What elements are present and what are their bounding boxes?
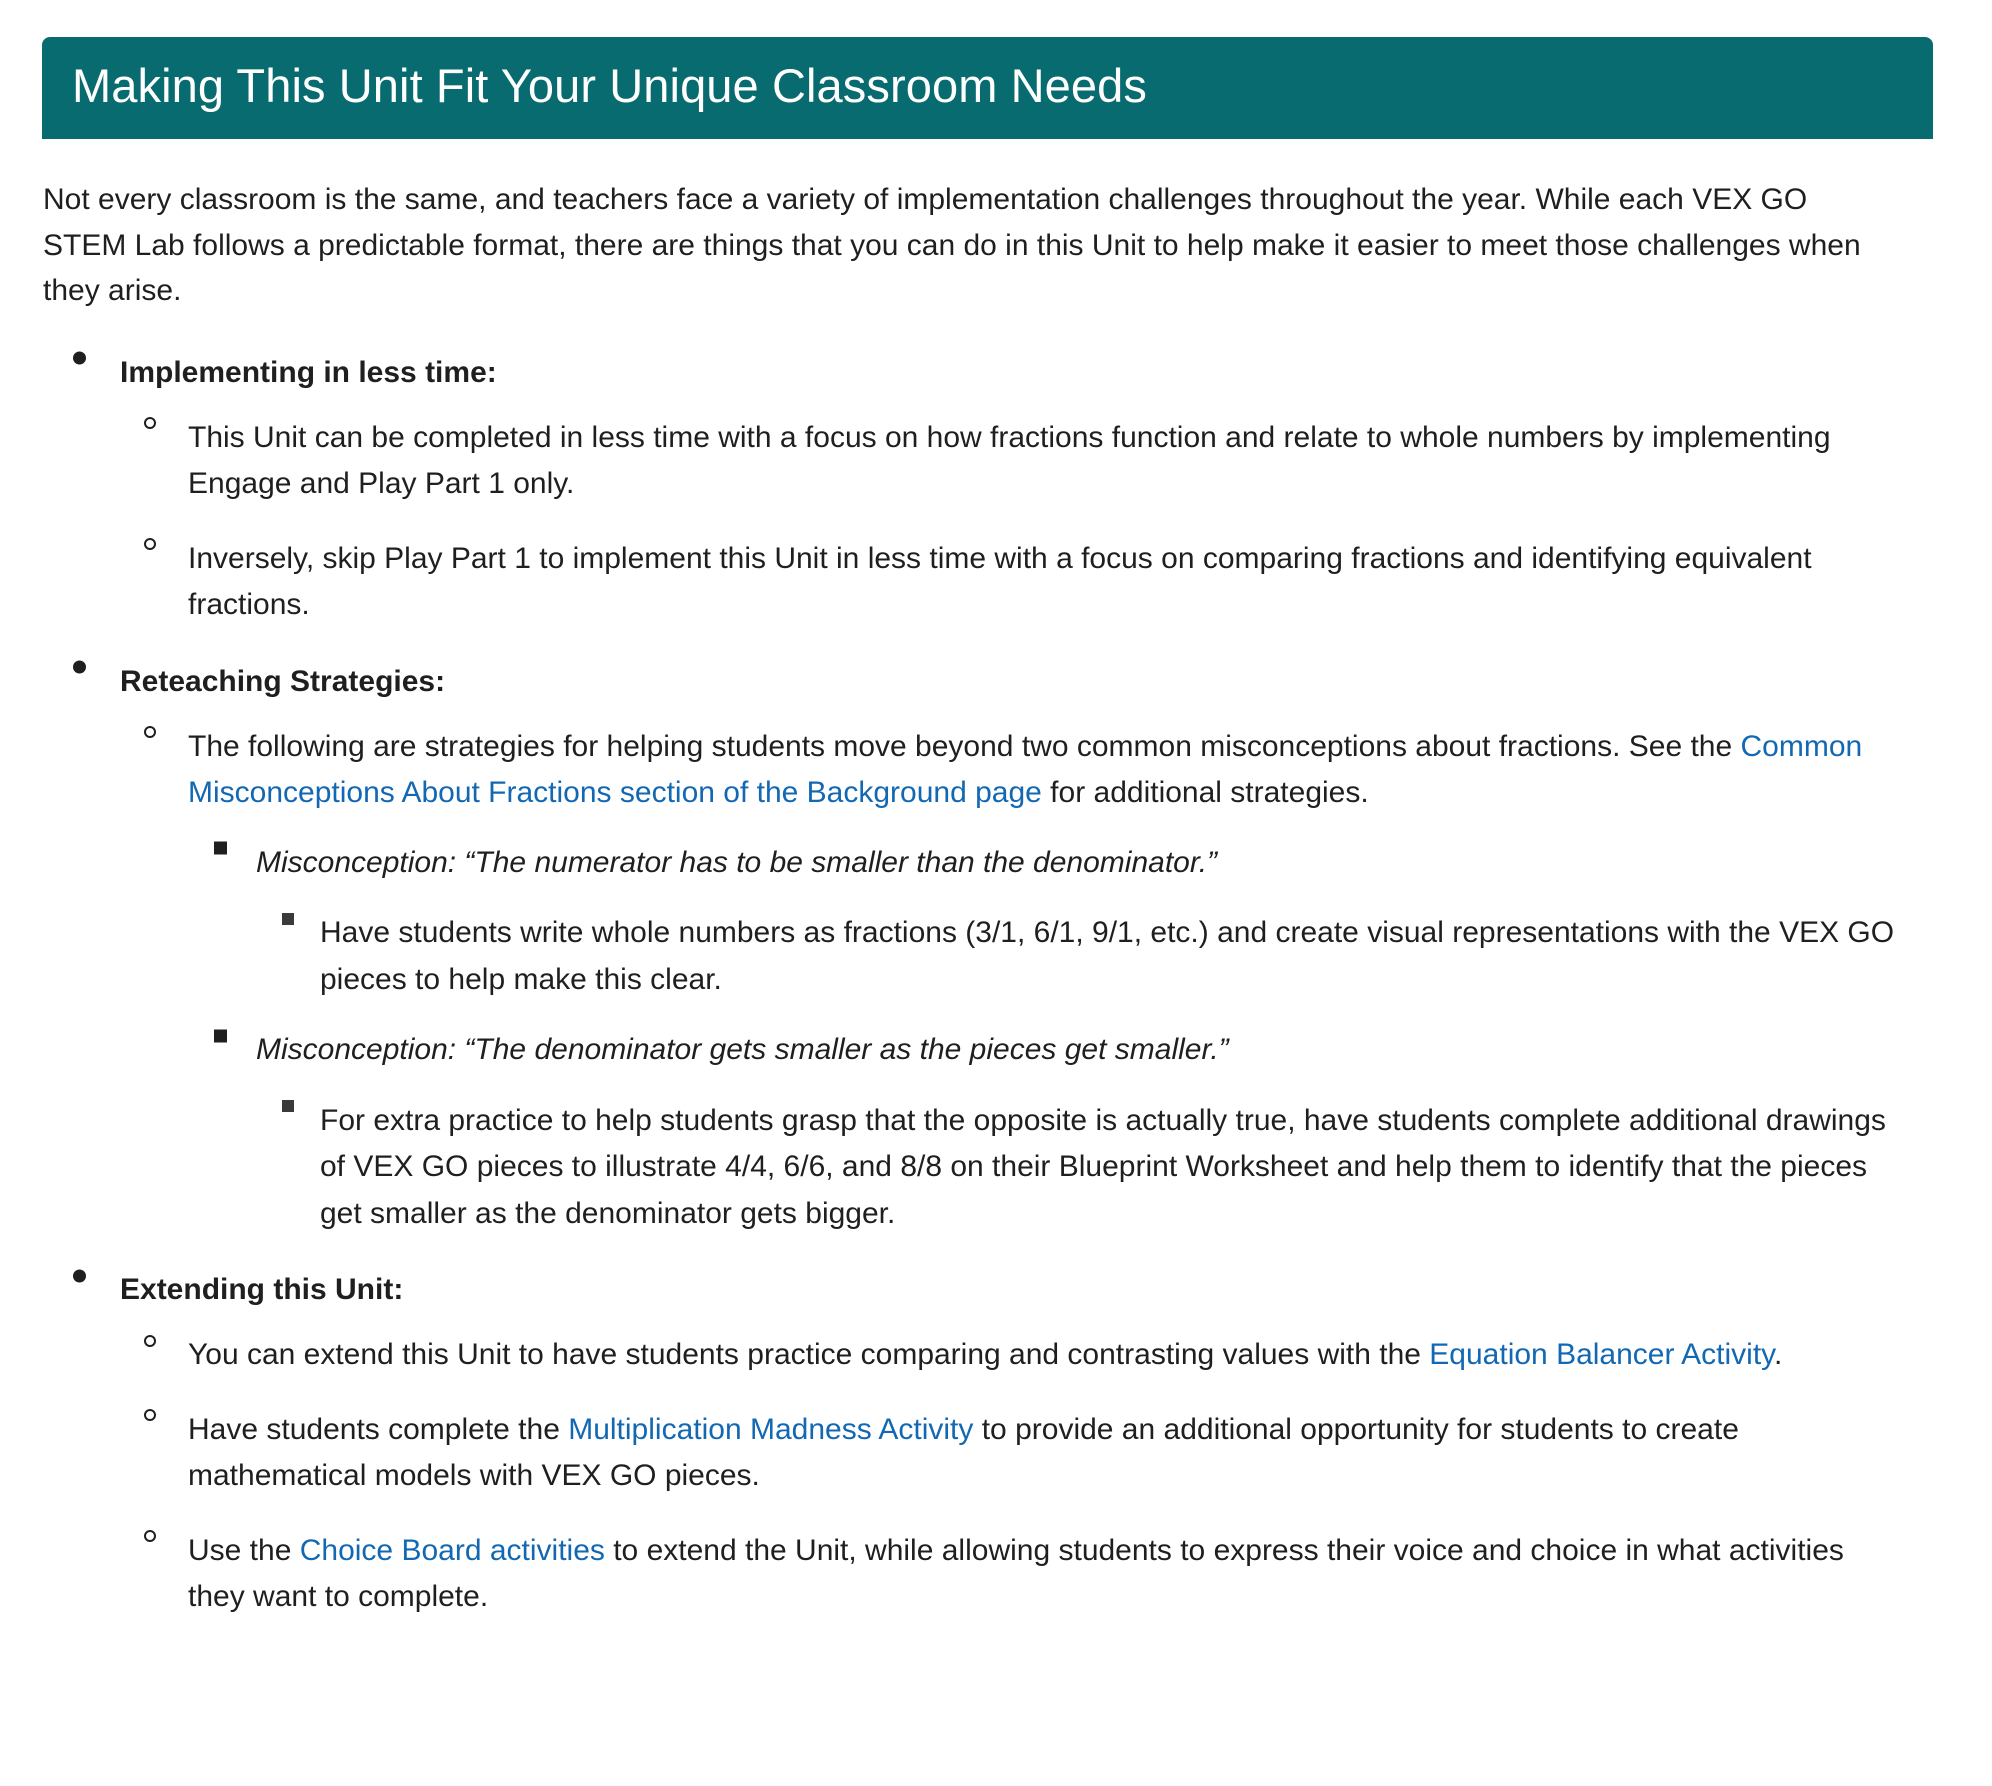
heading-reteaching: Reteaching Strategies: — [120, 659, 1937, 704]
list-item: This Unit can be completed in less time … — [120, 415, 1937, 508]
link-choice-board-activities[interactable]: Choice Board activities — [300, 1534, 605, 1567]
reteaching-sublist: The following are strategies for helping… — [120, 724, 1937, 1238]
misconception-1-heading: Misconception: “The numerator has to be … — [256, 840, 1937, 887]
list-item-extending: Extending this Unit: You can extend this… — [42, 1267, 1937, 1621]
reteaching-intro-post: for additional strategies. — [1042, 776, 1369, 809]
implementing-item-1: This Unit can be completed in less time … — [188, 415, 1937, 508]
misconception-2-heading: Misconception: “The denominator gets sma… — [256, 1027, 1937, 1074]
extending-item-1: You can extend this Unit to have student… — [188, 1332, 1937, 1379]
disc-bullet-icon — [73, 661, 86, 674]
reteaching-intro-pre: The following are strategies for helping… — [188, 730, 1741, 763]
list-item: Use the Choice Board activities to exten… — [120, 1528, 1937, 1621]
list-item: Misconception: “The denominator gets sma… — [188, 1027, 1937, 1237]
square-bullet-icon — [282, 1100, 294, 1112]
misconception-2-strategy: For extra practice to help students gras… — [320, 1098, 1937, 1238]
circle-bullet-icon — [144, 726, 156, 738]
extending-item-1-post: . — [1774, 1338, 1782, 1371]
misconception-1-strategy-list: Have students write whole numbers as fra… — [256, 910, 1937, 1003]
list-item: Have students complete the Multiplicatio… — [120, 1407, 1937, 1500]
implementing-sublist: This Unit can be completed in less time … — [120, 415, 1937, 629]
heading-extending: Extending this Unit: — [120, 1267, 1937, 1312]
misconception-list: Misconception: “The numerator has to be … — [188, 840, 1937, 1238]
misconception-1-strategy: Have students write whole numbers as fra… — [320, 910, 1937, 1003]
circle-bullet-icon — [144, 1530, 156, 1542]
list-item: The following are strategies for helping… — [120, 724, 1937, 1238]
disc-bullet-icon — [73, 352, 86, 365]
page-container: Making This Unit Fit Your Unique Classro… — [0, 0, 1992, 1661]
square-bullet-icon — [214, 842, 227, 855]
page-title: Making This Unit Fit Your Unique Classro… — [72, 59, 1933, 113]
circle-bullet-icon — [144, 1409, 156, 1421]
circle-bullet-icon — [144, 417, 156, 429]
section-header-bar: Making This Unit Fit Your Unique Classro… — [42, 37, 1933, 139]
misconception-2-strategy-list: For extra practice to help students gras… — [256, 1098, 1937, 1238]
extending-sublist: You can extend this Unit to have student… — [120, 1332, 1937, 1621]
extending-item-3: Use the Choice Board activities to exten… — [188, 1528, 1937, 1621]
extending-item-1-pre: You can extend this Unit to have student… — [188, 1338, 1429, 1371]
extending-item-2-pre: Have students complete the — [188, 1413, 568, 1446]
heading-implementing: Implementing in less time: — [120, 350, 1937, 395]
list-item: For extra practice to help students gras… — [256, 1098, 1937, 1238]
list-item: Have students write whole numbers as fra… — [256, 910, 1937, 1003]
disc-bullet-icon — [73, 1269, 86, 1282]
main-bullet-list: Implementing in less time: This Unit can… — [42, 350, 1937, 1621]
list-item: You can extend this Unit to have student… — [120, 1332, 1937, 1379]
link-multiplication-madness-activity[interactable]: Multiplication Madness Activity — [568, 1413, 973, 1446]
intro-paragraph: Not every classroom is the same, and tea… — [42, 177, 1937, 314]
link-equation-balancer-activity[interactable]: Equation Balancer Activity — [1429, 1338, 1774, 1371]
circle-bullet-icon — [144, 538, 156, 550]
reteaching-intro: The following are strategies for helping… — [188, 724, 1937, 817]
list-item: Inversely, skip Play Part 1 to implement… — [120, 536, 1937, 629]
list-item: Misconception: “The numerator has to be … — [188, 840, 1937, 1004]
extending-item-2: Have students complete the Multiplicatio… — [188, 1407, 1937, 1500]
implementing-item-2: Inversely, skip Play Part 1 to implement… — [188, 536, 1937, 629]
spacer — [42, 1237, 1937, 1267]
circle-bullet-icon — [144, 1335, 156, 1347]
extending-item-3-pre: Use the — [188, 1534, 300, 1567]
spacer — [42, 629, 1937, 659]
square-bullet-icon — [282, 913, 294, 925]
list-item-implementing: Implementing in less time: This Unit can… — [42, 350, 1937, 629]
square-bullet-icon — [214, 1029, 227, 1042]
list-item-reteaching: Reteaching Strategies: The following are… — [42, 659, 1937, 1238]
